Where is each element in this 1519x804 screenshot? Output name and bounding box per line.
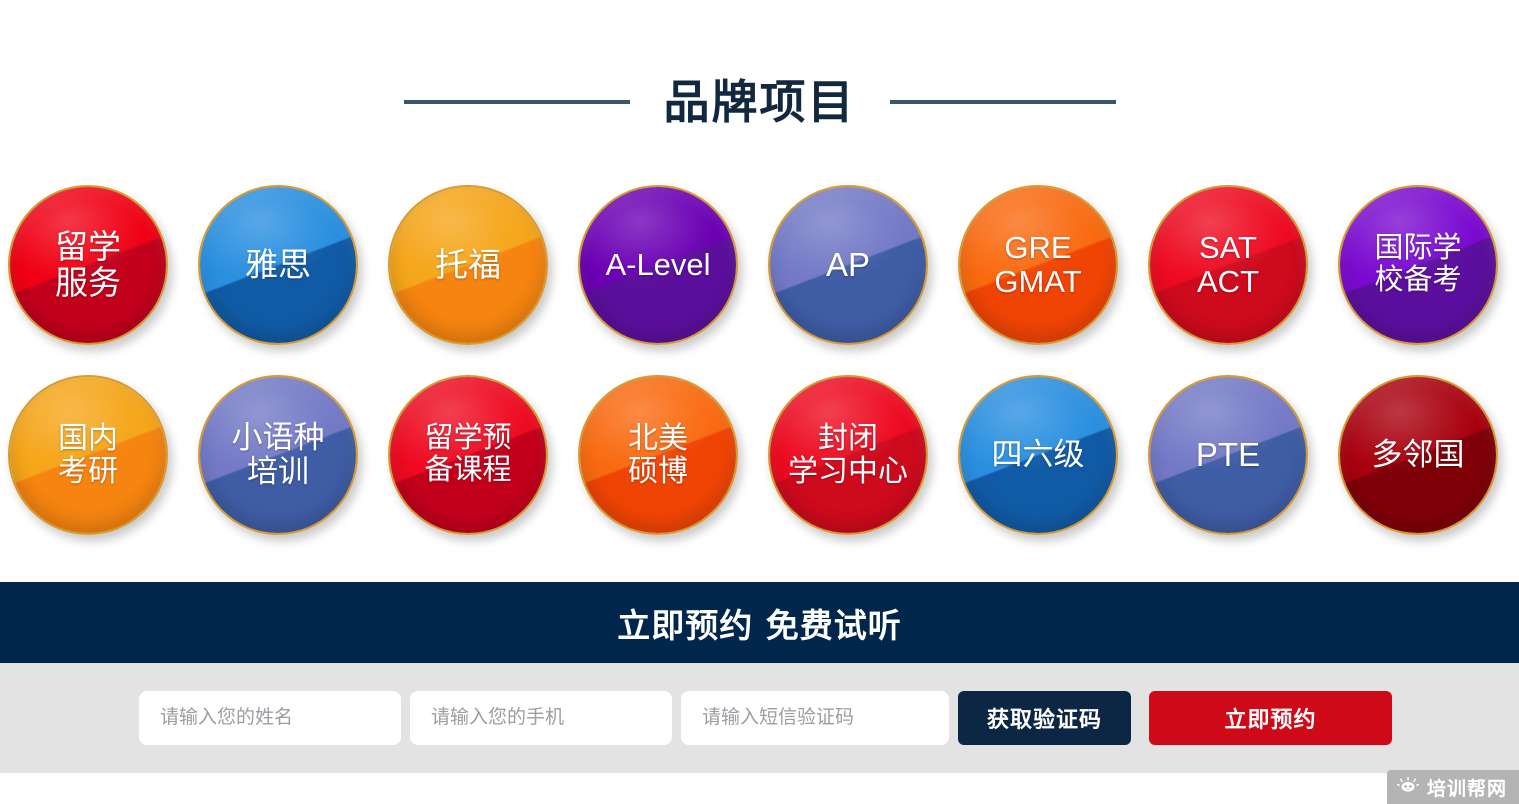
watermark-text: 培训帮网	[1427, 774, 1507, 801]
phone-input[interactable]	[410, 691, 672, 745]
site-watermark: 培训帮网	[1387, 770, 1519, 804]
bubble-fill	[580, 377, 736, 533]
page-title: 品牌项目	[664, 79, 856, 125]
program-bubble-pre-study-abroad-course[interactable]: 留学预 备课程	[388, 375, 548, 535]
program-bubble-sat-act[interactable]: SAT ACT	[1148, 185, 1308, 345]
bubble-fill	[960, 187, 1116, 343]
bubble-fill	[580, 187, 736, 343]
bubble-fill	[200, 187, 356, 343]
program-bubble-ap[interactable]: AP	[768, 185, 928, 345]
program-bubble-north-america-master-phd[interactable]: 北美 硕博	[578, 375, 738, 535]
bubble-fill	[1340, 187, 1496, 343]
booking-banner-text: 立即预约 免费试听	[617, 599, 902, 647]
program-bubble-study-abroad-service[interactable]: 留学 服务	[8, 185, 168, 345]
sun-face-icon	[1397, 776, 1419, 798]
program-bubble-intl-school-prep[interactable]: 国际学 校备考	[1338, 185, 1498, 345]
bubble-fill	[390, 187, 546, 343]
program-bubble-duolingo[interactable]: 多邻国	[1338, 375, 1498, 535]
sms-code-input[interactable]	[681, 691, 949, 745]
section-heading: 品牌项目	[0, 62, 1519, 142]
name-input[interactable]	[139, 691, 401, 745]
program-row-2: 国内 考研 小语种 培训 留学预 备课程 北美 硕博 封闭 学习中心	[8, 375, 1511, 535]
bubble-fill	[10, 377, 166, 533]
bubble-fill	[770, 377, 926, 533]
program-bubble-pte[interactable]: PTE	[1148, 375, 1308, 535]
program-bubble-domestic-postgrad[interactable]: 国内 考研	[8, 375, 168, 535]
booking-banner: 立即预约 免费试听	[0, 582, 1519, 663]
program-bubble-gre-gmat[interactable]: GRE GMAT	[958, 185, 1118, 345]
bubble-fill	[200, 377, 356, 533]
program-bubble-toefl[interactable]: 托福	[388, 185, 548, 345]
bubble-fill	[1150, 377, 1306, 533]
submit-booking-button[interactable]: 立即预约	[1149, 691, 1392, 745]
bubble-fill	[390, 377, 546, 533]
program-bubble-minor-language-training[interactable]: 小语种 培训	[198, 375, 358, 535]
get-code-button[interactable]: 获取验证码	[958, 691, 1131, 745]
bubble-fill	[1340, 377, 1496, 533]
bubble-fill	[1150, 187, 1306, 343]
booking-form-strip: 获取验证码 立即预约	[0, 663, 1519, 773]
heading-rule-right	[890, 100, 1116, 104]
bubble-fill	[10, 187, 166, 343]
program-bubble-cet-4-6[interactable]: 四六级	[958, 375, 1118, 535]
heading-rule-left	[404, 100, 630, 104]
program-bubble-ielts[interactable]: 雅思	[198, 185, 358, 345]
program-bubble-a-level[interactable]: A-Level	[578, 185, 738, 345]
program-row-1: 留学 服务 雅思 托福 A-Level AP	[8, 185, 1511, 345]
bubble-fill	[770, 187, 926, 343]
program-grid: 留学 服务 雅思 托福 A-Level AP	[8, 185, 1511, 565]
program-bubble-closed-study-center[interactable]: 封闭 学习中心	[768, 375, 928, 535]
bubble-fill	[960, 377, 1116, 533]
booking-form: 获取验证码 立即预约	[139, 691, 1392, 745]
